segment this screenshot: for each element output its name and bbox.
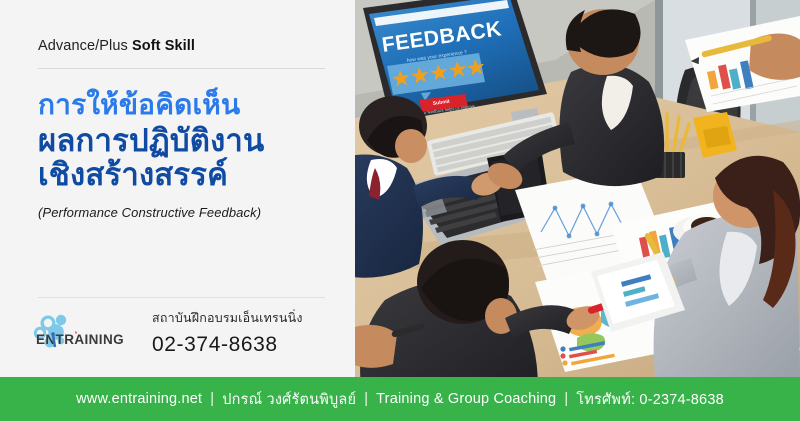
entraining-logo-icon: ENTRAINING [30, 314, 134, 354]
title-line-3: เชิงสร้างสรรค์ [38, 158, 325, 193]
course-kicker: Advance/Plus Soft Skill [38, 38, 325, 54]
subtitle-english: (Performance Constructive Feedback) [38, 205, 325, 220]
contact-block: ENTRAINING สถาบันฝึกอบรมเอ็นเทรนนิ่ง 02-… [30, 308, 350, 370]
title-line-1: การให้ข้อคิดเห็น [38, 89, 325, 120]
entraining-logo: ENTRAINING [30, 308, 138, 354]
title-line-2: ผลการปฏิบัติงาน [38, 124, 325, 158]
meeting-photo: FEEDBACK how was your experience ? Sub [355, 0, 800, 377]
footer-separator-2: | [364, 391, 368, 407]
footer-separator-3: | [564, 391, 568, 407]
entraining-wordmark: ENTRAINING [36, 332, 124, 347]
poster-canvas: Advance/Plus Soft Skill การให้ข้อคิดเห็น… [0, 0, 800, 421]
organization-name-thai: สถาบันฝึกอบรมเอ็นเทรนนิ่ง [152, 308, 303, 328]
footer-phone: โทรศัพท์: 0-2374-8638 [576, 388, 724, 411]
kicker-bold-text: Soft Skill [132, 38, 195, 54]
footer-content: www.entraining.net | ปกรณ์ วงศ์รัตนพิบูล… [76, 388, 724, 411]
footer-website[interactable]: www.entraining.net [76, 391, 202, 407]
footer-separator-1: | [210, 391, 214, 407]
kicker-regular-text: Advance/Plus [38, 38, 132, 54]
footer-service: Training & Group Coaching [376, 391, 556, 407]
contact-text-block: สถาบันฝึกอบรมเอ็นเทรนนิ่ง 02-374-8638 [152, 308, 303, 357]
meeting-photo-illustration: FEEDBACK how was your experience ? Sub [355, 0, 800, 377]
footer-instructor-name: ปกรณ์ วงศ์รัตนพิบูลย์ [222, 388, 356, 411]
footer-bar: www.entraining.net | ปกรณ์ วงศ์รัตนพิบูล… [0, 377, 800, 421]
phone-number: 02-374-8638 [152, 333, 303, 357]
header-divider [38, 68, 325, 69]
contact-divider [38, 297, 325, 298]
